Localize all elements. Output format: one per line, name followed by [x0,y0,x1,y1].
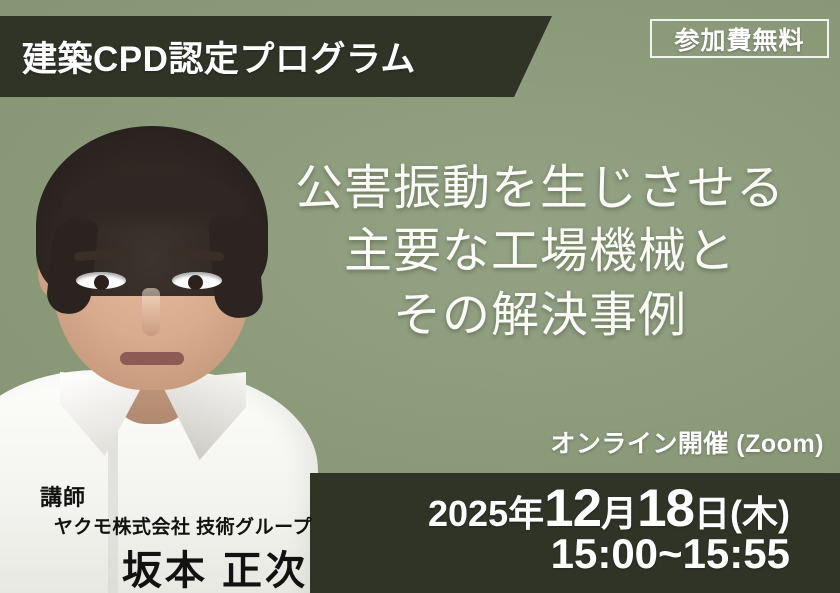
eye-left-shape [76,272,126,289]
pupil-left-shape [94,275,109,290]
free-admission-label: 参加費無料 [674,21,804,57]
event-time: 15:00~15:55 [551,530,790,578]
pupil-right-shape [188,275,203,290]
face-shape [52,152,252,390]
eyebrow-right-shape [168,248,225,262]
eyebrow-left-shape [74,248,131,262]
online-format-label: オンライン開催 (Zoom) [550,424,824,460]
eye-right-shape [172,272,222,289]
speaker-role-label: 講師 [40,480,86,512]
nose-shape [142,288,160,336]
mouth-shape [120,352,184,365]
speaker-organization: ヤクモ株式会社 技術グループ [54,512,312,539]
program-ribbon: 建築CPD認定プログラム [0,16,552,97]
seminar-title-line-1: 公害振動を生じさせる [248,157,832,220]
program-ribbon-label: 建築CPD認定プログラム [22,31,416,82]
free-admission-badge: 参加費無料 [650,19,829,58]
neck-shape [112,352,192,424]
seminar-poster: 建築CPD認定プログラム 参加費無料 公害振動を生じさせる 主要な工場機械と そ… [0,0,840,593]
speaker-name: 坂本 正次 [122,538,308,593]
seminar-title-line-2: 主要な工場機械と [248,220,832,283]
collar-right-shape [160,372,246,460]
ear-right-shape [218,248,244,296]
schedule-bar: 2025年 12 月 18 日(木) 15:00~15:55 [310,473,840,593]
collar-left-shape [60,372,146,456]
ear-left-shape [38,248,64,296]
fringe-shape [62,174,244,230]
seminar-title-line-3: その解決事例 [248,284,832,347]
speaker-credit: 講師 ヤクモ株式会社 技術グループ 坂本 正次 [0,476,318,593]
hair-shape [36,126,268,296]
event-year: 2025年 [428,485,544,537]
seminar-title: 公害振動を生じさせる 主要な工場機械と その解決事例 [248,157,832,347]
